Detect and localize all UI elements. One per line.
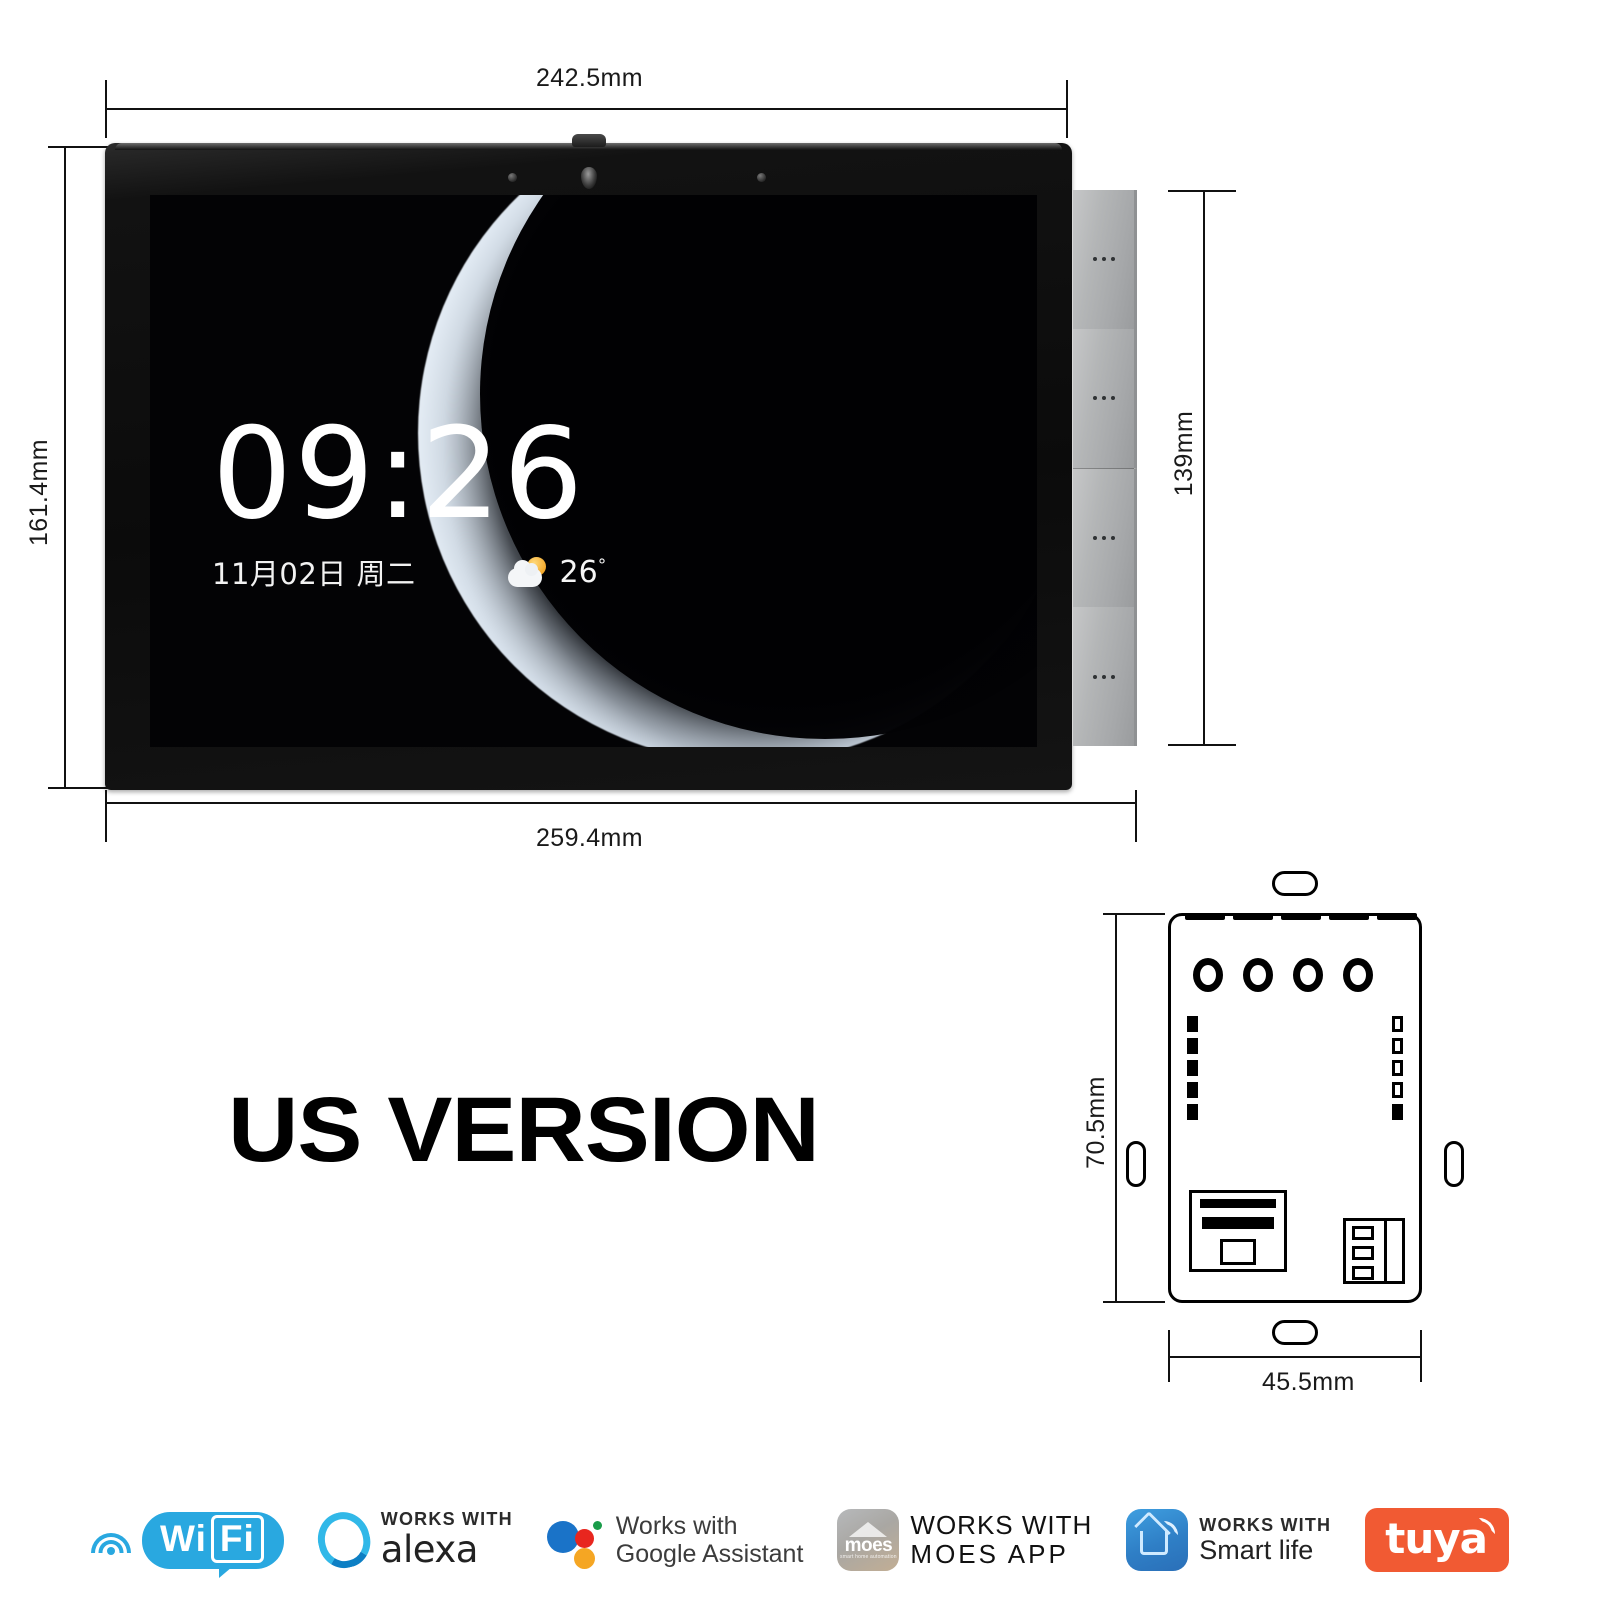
device-screen[interactable]: 09:26 11月02日 周二 26° <box>150 195 1037 747</box>
switch-key-1-dots-icon <box>1093 257 1115 261</box>
pin-pad-right-2 <box>1392 1038 1403 1054</box>
pin-pad-right-4 <box>1392 1082 1403 1098</box>
ambient-sensor-right-icon <box>757 173 766 182</box>
pin-pad-left-3 <box>1187 1060 1198 1076</box>
switch-key-4-dots-icon <box>1093 675 1115 679</box>
smartlife-works-with-label: WORKS WITH <box>1199 1515 1331 1535</box>
weather-temperature: 26° <box>560 555 607 590</box>
smart-life-text: WORKS WITH Smart life <box>1199 1515 1331 1565</box>
switch-key-3[interactable] <box>1073 469 1137 608</box>
pin-pad-right-5 <box>1392 1104 1403 1120</box>
moes-app-wordmark: MOES APP <box>910 1540 1092 1569</box>
mount-slot-left <box>1126 1141 1146 1187</box>
dim-tick-back-width-left <box>1168 1330 1170 1382</box>
moes-text: WORKS WITH MOES APP <box>910 1511 1092 1569</box>
clock-date: 11月02日 周二 <box>212 551 416 593</box>
dim-label-total-height: 161.4mm <box>25 439 54 546</box>
dim-tick-screen-width-left <box>105 80 107 138</box>
badge-moes-app: moes smart home automation WORKS WITH MO… <box>837 1509 1092 1571</box>
switch-key-4[interactable] <box>1073 607 1137 746</box>
top-vent-2 <box>1233 913 1273 920</box>
dim-line-total-width <box>105 802 1137 804</box>
top-vent-1 <box>1185 913 1225 920</box>
google-assistant-dots-icon <box>547 1515 605 1565</box>
ambient-sensor-left-icon <box>508 173 517 182</box>
dim-line-switch-height <box>1203 190 1205 746</box>
rj45-ethernet-port-icon <box>1189 1190 1287 1272</box>
google-assistant-wordmark: Google Assistant <box>616 1540 804 1568</box>
wifi-wordmark: WiFi <box>142 1512 284 1569</box>
top-vent-4 <box>1329 913 1369 920</box>
dim-tick-total-width-right <box>1135 790 1137 842</box>
alexa-works-with-label: WORKS WITH <box>381 1509 513 1529</box>
tuya-logo-tile: tuya <box>1365 1508 1509 1572</box>
dim-tick-switch-height-bottom <box>1168 744 1236 746</box>
screw-hole-1 <box>1193 958 1223 992</box>
dim-line-screen-width <box>105 108 1068 110</box>
moes-tile-subline: smart home automation <box>837 1554 899 1560</box>
side-switch-strip <box>1073 190 1137 746</box>
dim-line-back-width <box>1168 1356 1422 1358</box>
tuya-signal-icon <box>1479 1518 1495 1534</box>
top-vent-3 <box>1281 913 1321 920</box>
mount-ear-bottom <box>1272 1320 1318 1345</box>
moes-app-icon: moes smart home automation <box>837 1509 899 1571</box>
dim-label-switch-height: 139mm <box>1170 411 1199 496</box>
weather-temperature-value: 26 <box>560 555 598 590</box>
dim-tick-total-height-top <box>48 146 110 148</box>
dim-tick-back-height-top <box>1103 913 1165 915</box>
badge-wifi: WiFi <box>91 1512 284 1569</box>
moes-works-with-label: WORKS WITH <box>910 1511 1092 1540</box>
wifi-wordmark-fi: Fi <box>211 1515 264 1563</box>
pin-pad-left-4 <box>1187 1082 1198 1098</box>
compatibility-badges-row: WiFi WORKS WITH alexa Works with Google … <box>0 1508 1600 1572</box>
alexa-wordmark: alexa <box>381 1529 513 1570</box>
screw-hole-2 <box>1243 958 1273 992</box>
pin-pad-right-1 <box>1392 1016 1403 1032</box>
camera-lens-icon <box>581 167 597 189</box>
weather-widget[interactable]: 26° <box>508 555 607 590</box>
dim-label-screen-width: 242.5mm <box>536 64 643 93</box>
back-panel-drawing <box>1168 913 1422 1303</box>
dim-line-back-height <box>1115 913 1117 1303</box>
switch-key-3-dots-icon <box>1093 536 1115 540</box>
screw-terminal-block-icon <box>1343 1218 1405 1284</box>
degree-symbol: ° <box>598 556 607 576</box>
dim-label-back-height: 70.5mm <box>1082 1076 1111 1169</box>
google-works-with-label: Works with <box>616 1512 804 1540</box>
badge-tuya: tuya <box>1365 1508 1509 1572</box>
badge-smart-life: WORKS WITH Smart life <box>1126 1509 1331 1571</box>
dim-tick-back-height-bottom <box>1103 1301 1165 1303</box>
dim-tick-switch-height-top <box>1168 190 1236 192</box>
top-vent-5 <box>1377 913 1417 920</box>
dim-tick-total-height-bottom <box>48 787 110 789</box>
switch-key-2[interactable] <box>1073 329 1137 469</box>
pin-pad-left-1 <box>1187 1016 1198 1032</box>
badge-alexa: WORKS WITH alexa <box>318 1509 513 1571</box>
google-assistant-text: Works with Google Assistant <box>616 1512 804 1568</box>
sun-behind-cloud-icon <box>508 557 548 587</box>
switch-key-1[interactable] <box>1073 190 1137 329</box>
dim-label-back-width: 45.5mm <box>1262 1368 1355 1397</box>
clock-time: 09:26 <box>212 411 606 537</box>
camera-nub <box>572 134 606 147</box>
pin-pad-right-3 <box>1392 1060 1403 1076</box>
clock-widget[interactable]: 09:26 11月02日 周二 26° <box>212 411 606 593</box>
screw-hole-4 <box>1343 958 1373 992</box>
smart-life-house-icon <box>1126 1509 1188 1571</box>
back-panel-body <box>1168 913 1422 1303</box>
pin-pad-left-5 <box>1187 1104 1198 1120</box>
dim-tick-total-width-left <box>105 790 107 842</box>
mount-ear-top <box>1272 871 1318 896</box>
smart-life-wordmark: Smart life <box>1199 1535 1331 1565</box>
wifi-wordmark-wi: Wi <box>160 1518 207 1559</box>
screw-hole-3 <box>1293 958 1323 992</box>
dim-label-total-width: 259.4mm <box>536 824 643 853</box>
switch-key-2-dots-icon <box>1093 396 1115 400</box>
badge-google-assistant: Works with Google Assistant <box>547 1512 804 1568</box>
device-front-view: 09:26 11月02日 周二 26° <box>105 143 1072 790</box>
page-title-us-version: US VERSION <box>228 1078 819 1183</box>
pin-pad-left-2 <box>1187 1038 1198 1054</box>
tuya-wordmark: tuya <box>1385 1518 1487 1560</box>
dim-tick-screen-width-right <box>1066 80 1068 138</box>
mount-slot-right <box>1444 1141 1464 1187</box>
wifi-icon <box>91 1525 131 1555</box>
alexa-ring-icon <box>312 1507 376 1574</box>
alexa-text: WORKS WITH alexa <box>381 1509 513 1571</box>
product-spec-sheet: 242.5mm 161.4mm 09:26 11月02日 周二 <box>0 0 1600 1600</box>
clock-meta-row: 11月02日 周二 26° <box>212 551 606 593</box>
dim-line-total-height <box>64 146 66 789</box>
dim-tick-back-width-right <box>1420 1330 1422 1382</box>
